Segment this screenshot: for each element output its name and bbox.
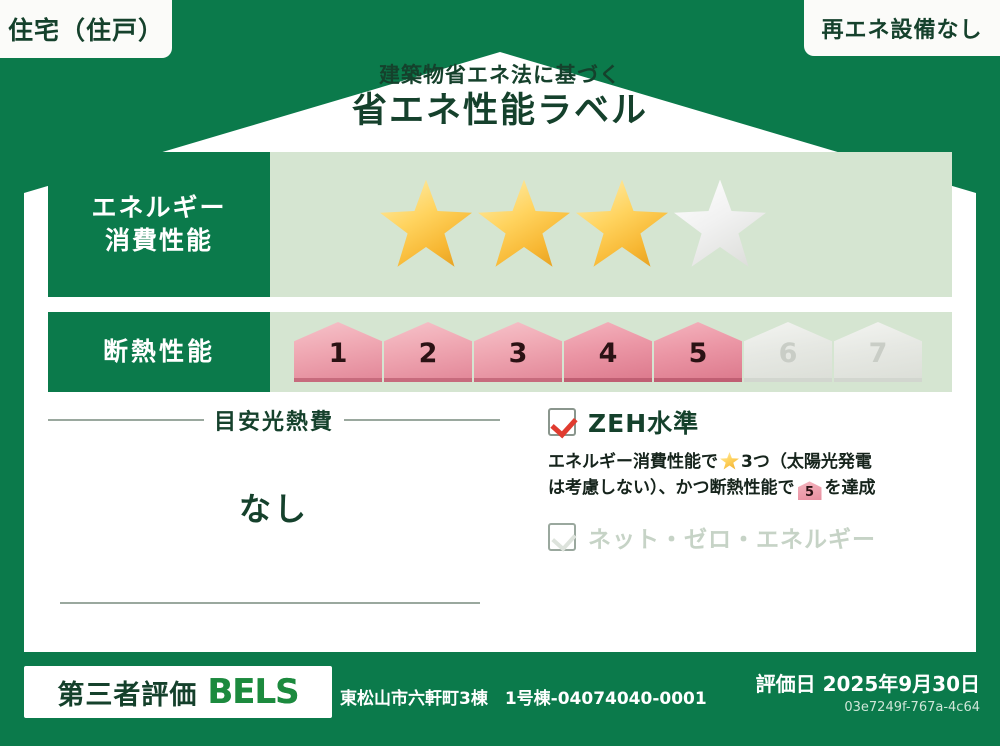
house-icon-4: 4 — [564, 322, 652, 382]
energy-performance-key: エネルギー 消費性能 — [48, 152, 270, 297]
utility-cost-underline — [60, 602, 480, 604]
house-icon-3: 3 — [474, 322, 562, 382]
energy-key-line2: 消費性能 — [105, 225, 213, 258]
house-icon-1: 1 — [294, 322, 382, 382]
house-icon-2: 2 — [384, 322, 472, 382]
house-icon-6: 6 — [744, 322, 832, 382]
rule-left — [48, 419, 204, 421]
insulation-performance-row: 断熱性能 1 2 3 4 5 6 7 — [48, 312, 952, 392]
checkbox-checked-icon[interactable] — [548, 408, 576, 436]
star-icon-4 — [674, 180, 766, 270]
house-icon-5: 5 — [654, 322, 742, 382]
zeh-block: ZEH水準 エネルギー消費性能で3つ（太陽光発電 は考慮しない）、かつ断熱性能で… — [548, 404, 952, 554]
zeh-desc-star-count: 3つ（太陽光発電 — [741, 452, 872, 472]
zeh-desc-part2: は考慮しない）、かつ断熱性能で — [548, 478, 795, 498]
energy-key-line1: エネルギー — [91, 192, 226, 225]
evaluation-date: 評価日 2025年9月30日 — [756, 668, 980, 697]
net-zero-energy-label: ネット・ゼロ・エネルギー — [588, 520, 876, 554]
star-icon-3 — [576, 180, 668, 270]
star-icon-1 — [380, 180, 472, 270]
evaluation-code: 03e7249f-767a-4c64 — [756, 700, 980, 715]
rule-right — [344, 419, 500, 421]
star-icon-inline — [720, 452, 739, 470]
utility-cost-value: なし — [48, 484, 500, 530]
energy-star-rating — [270, 152, 952, 297]
utility-cost-heading: 目安光熱費 — [48, 404, 500, 436]
zeh-desc-part1: エネルギー消費性能で — [548, 452, 718, 472]
checkbox-unchecked-icon[interactable] — [548, 523, 576, 551]
label-footer: 第三者評価 BELS 東松山市六軒町3棟 1号棟-04074040-0001 評… — [0, 652, 1000, 746]
house-icon-7: 7 — [834, 322, 922, 382]
house-icon-inline: 5 — [798, 481, 822, 500]
badge-renewable-energy: 再エネ設備なし — [804, 0, 1000, 56]
zeh-description: エネルギー消費性能で3つ（太陽光発電 は考慮しない）、かつ断熱性能で5を達成 — [548, 449, 952, 502]
footer-evaluation-info: 評価日 2025年9月30日 03e7249f-767a-4c64 — [756, 668, 980, 715]
energy-performance-row: エネルギー 消費性能 — [48, 152, 952, 297]
utility-cost-block: 目安光熱費 なし — [48, 404, 500, 530]
insulation-performance-key: 断熱性能 — [48, 312, 270, 392]
zeh-title-row: ZEH水準 — [548, 404, 952, 440]
bels-en-label: BELS — [207, 672, 298, 712]
star-icon-2 — [478, 180, 570, 270]
insulation-level-scale: 1 2 3 4 5 6 7 — [270, 312, 952, 392]
property-address: 東松山市六軒町3棟 1号棟-04074040-0001 — [340, 684, 707, 709]
net-zero-energy-row: ネット・ゼロ・エネルギー — [548, 520, 952, 554]
label-bottom-area: 目安光熱費 なし ZEH水準 エネルギー消費性能で3つ（太陽光発電 は考慮しない… — [48, 404, 952, 652]
zeh-desc-part3: を達成 — [825, 478, 876, 498]
energy-performance-label: 住宅（住戸） 再エネ設備なし 建築物省エネ法に基づく 省エネ性能ラベル エネルギ… — [0, 0, 1000, 746]
bels-badge: 第三者評価 BELS — [24, 666, 332, 718]
utility-cost-heading-text: 目安光熱費 — [214, 404, 334, 436]
bels-jp-label: 第三者評価 — [57, 673, 197, 712]
badge-building-type: 住宅（住戸） — [0, 0, 172, 58]
zeh-title: ZEH水準 — [588, 404, 699, 440]
